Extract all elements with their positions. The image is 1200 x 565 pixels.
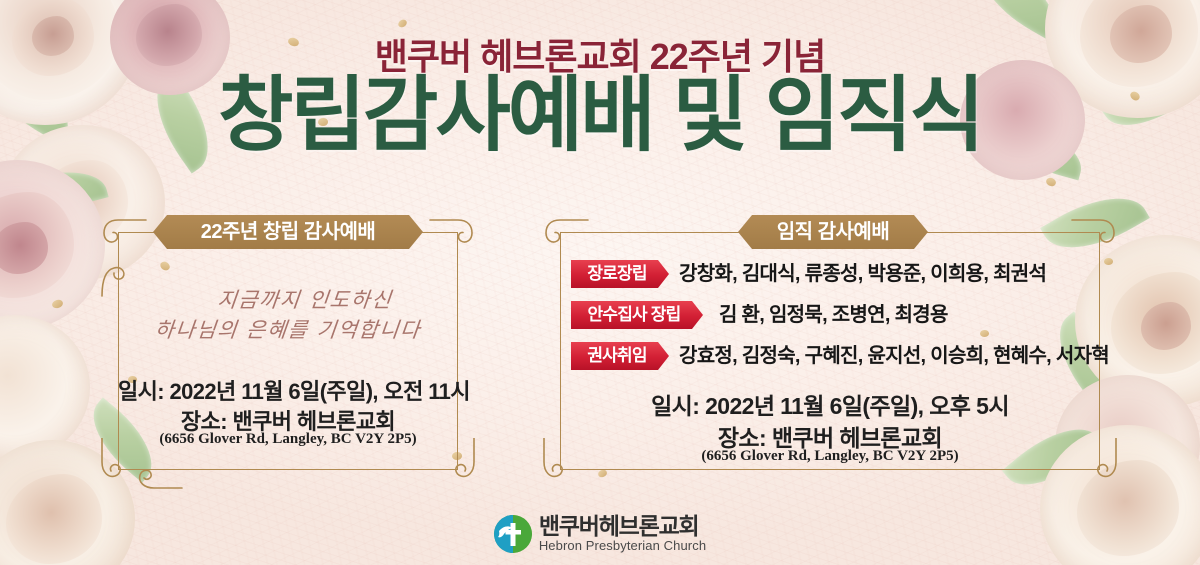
ordination-tag: 안수집사 장립 <box>571 301 703 329</box>
gold-dot <box>1045 176 1057 187</box>
gold-dot <box>597 469 608 479</box>
ordination-names: 강창화, 김대식, 류종성, 박용준, 이희용, 최권석 <box>679 260 1046 288</box>
ordination-names: 강효정, 김정숙, 구혜진, 윤지선, 이승희, 현혜수, 서자혁 <box>679 342 1109 370</box>
ordination-row: 장로장립 강창화, 김대식, 류종성, 박용준, 이희용, 최권석 <box>571 260 1100 288</box>
left-panel-script-line-1: 지금까지 인도하신 <box>116 284 459 314</box>
corner-curl-icon <box>1070 218 1116 264</box>
left-panel-banner: 22주년 창립 감사예배 <box>153 215 423 249</box>
left-panel-datetime: 일시: 2022년 11월 6일(주일), 오전 11시 <box>118 374 458 406</box>
left-panel-script-line-2: 하나님의 은혜를 기억합니다 <box>116 314 459 344</box>
corner-curl-icon <box>132 448 184 490</box>
footer-logo: 밴쿠버헤브론교회 Hebron Presbyterian Church <box>0 514 1200 553</box>
right-panel-datetime: 일시: 2022년 11월 6일(주일), 오후 5시 <box>560 387 1100 421</box>
logo-name-english: Hebron Presbyterian Church <box>539 539 706 553</box>
corner-curl-icon <box>544 218 590 264</box>
ordination-tag: 장로장립 <box>571 260 669 288</box>
corner-curl-icon <box>428 218 474 264</box>
left-panel-address: (6656 Glover Rd, Langley, BC V2Y 2P5) <box>118 431 458 448</box>
right-panel-banner: 임직 감사예배 <box>738 215 928 249</box>
church-dove-cross-icon <box>494 515 532 553</box>
logo-name-korean: 밴쿠버헤브론교회 <box>539 514 706 538</box>
poster-main-title: 창립감사예배 및 임직식 <box>0 72 1200 161</box>
gold-dot <box>51 299 64 310</box>
right-panel-address: (6656 Glover Rd, Langley, BC V2Y 2P5) <box>560 448 1100 465</box>
event-poster: 밴쿠버 헤브론교회 22주년 기념 창립감사예배 및 임직식 22주년 창립 감… <box>0 0 1200 565</box>
right-panel: 임직 감사예배 장로장립 강창화, 김대식, 류종성, 박용준, 이희용, 최권… <box>560 232 1100 470</box>
ordination-row: 안수집사 장립 김 환, 임정묵, 조병연, 최경용 <box>571 301 1100 329</box>
logo-text-block: 밴쿠버헤브론교회 Hebron Presbyterian Church <box>539 514 706 553</box>
ordination-row: 권사취임 강효정, 김정숙, 구혜진, 윤지선, 이승희, 현혜수, 서자혁 <box>571 342 1100 370</box>
ordination-names: 김 환, 임정묵, 조병연, 최경용 <box>719 301 948 329</box>
ordination-tag: 권사취임 <box>571 342 669 370</box>
left-panel: 22주년 창립 감사예배 지금까지 인도하신 하나님의 은혜를 기억합니다 일시… <box>118 232 458 470</box>
